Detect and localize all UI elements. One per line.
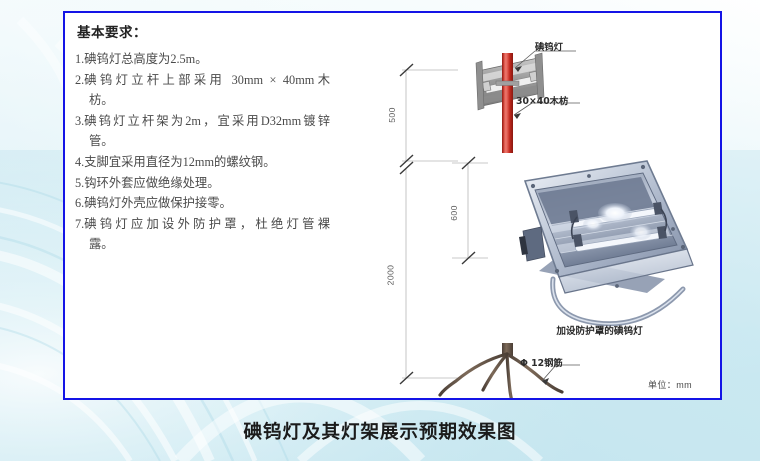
list-item: 枋。 <box>75 91 330 110</box>
clamp-band <box>496 81 519 86</box>
list-item: 管。 <box>75 132 330 151</box>
callout-rebar: Φ 12钢筋 <box>520 355 563 369</box>
floodlight-photo-svg <box>497 153 702 343</box>
list-item-text: 碘钨灯总高度为2.5m。 <box>84 50 330 69</box>
list-item: 6. 碘钨灯外壳应做保护接零。 <box>75 194 330 213</box>
list-item: 4. 支脚宜采用直径为12mm的螺纹钢。 <box>75 153 330 172</box>
callout-timber: 30×40木枋 <box>516 93 568 107</box>
list-item-text: 碘钨灯立杆上部采用 30mm × 40mm木 <box>84 71 330 90</box>
unit-note: 单位：mm <box>648 378 692 391</box>
list-item: 1. 碘钨灯总高度为2.5m。 <box>75 50 330 69</box>
list-item: 7. 碘钨灯应加设外防护罩，杜绝灯管裸 <box>75 215 330 234</box>
dimension-lines-left <box>402 70 458 378</box>
list-item-number: 2. <box>75 71 84 90</box>
dimension-2000: 2000 <box>385 265 395 286</box>
dimension-600: 600 <box>449 205 459 221</box>
list-item-text: 管。 <box>89 132 330 151</box>
list-item-number: 5. <box>75 174 84 193</box>
content-panel: 基本要求： 1. 碘钨灯总高度为2.5m。 2. 碘钨灯立杆上部采用 30mm … <box>63 11 722 400</box>
requirements-block: 基本要求： 1. 碘钨灯总高度为2.5m。 2. 碘钨灯立杆上部采用 30mm … <box>75 19 330 256</box>
list-item-number: 3. <box>75 112 84 131</box>
photo-caption: 加设防护罩的碘钨灯 <box>497 323 702 337</box>
list-item-number: 6. <box>75 194 84 213</box>
floodlight-photo <box>497 153 702 343</box>
dimension-ticks-inner <box>462 157 475 264</box>
callout-lamp: 碘钨灯 <box>535 39 563 53</box>
requirements-heading: 基本要求： <box>77 21 330 41</box>
list-item: 5. 钩环外套应做绝缘处理。 <box>75 174 330 193</box>
list-item-number: 4. <box>75 153 84 172</box>
list-item-text: 钩环外套应做绝缘处理。 <box>84 174 330 193</box>
list-item-number: 1. <box>75 50 84 69</box>
dimension-ticks-left <box>400 64 413 384</box>
list-item-text: 碘钨灯应加设外防护罩，杜绝灯管裸 <box>84 215 330 234</box>
list-item-text: 支脚宜采用直径为12mm的螺纹钢。 <box>84 153 330 172</box>
list-item: 露。 <box>75 235 330 254</box>
list-item-text: 露。 <box>89 235 330 254</box>
list-item-text: 碘钨灯外壳应做保护接零。 <box>84 194 330 213</box>
list-item-number: 7. <box>75 215 84 234</box>
list-item: 3. 碘钨灯立杆架为2m，宜采用D32mm镀锌 <box>75 112 330 131</box>
list-item: 2. 碘钨灯立杆上部采用 30mm × 40mm木 <box>75 71 330 90</box>
list-item-text: 碘钨灯立杆架为2m，宜采用D32mm镀锌 <box>84 112 330 131</box>
requirements-list: 1. 碘钨灯总高度为2.5m。 2. 碘钨灯立杆上部采用 30mm × 40mm… <box>75 50 330 254</box>
slide-title: 碘钨灯及其灯架展示预期效果图 <box>0 418 760 444</box>
list-item-text: 枋。 <box>89 91 330 110</box>
dimension-500: 500 <box>387 107 397 123</box>
